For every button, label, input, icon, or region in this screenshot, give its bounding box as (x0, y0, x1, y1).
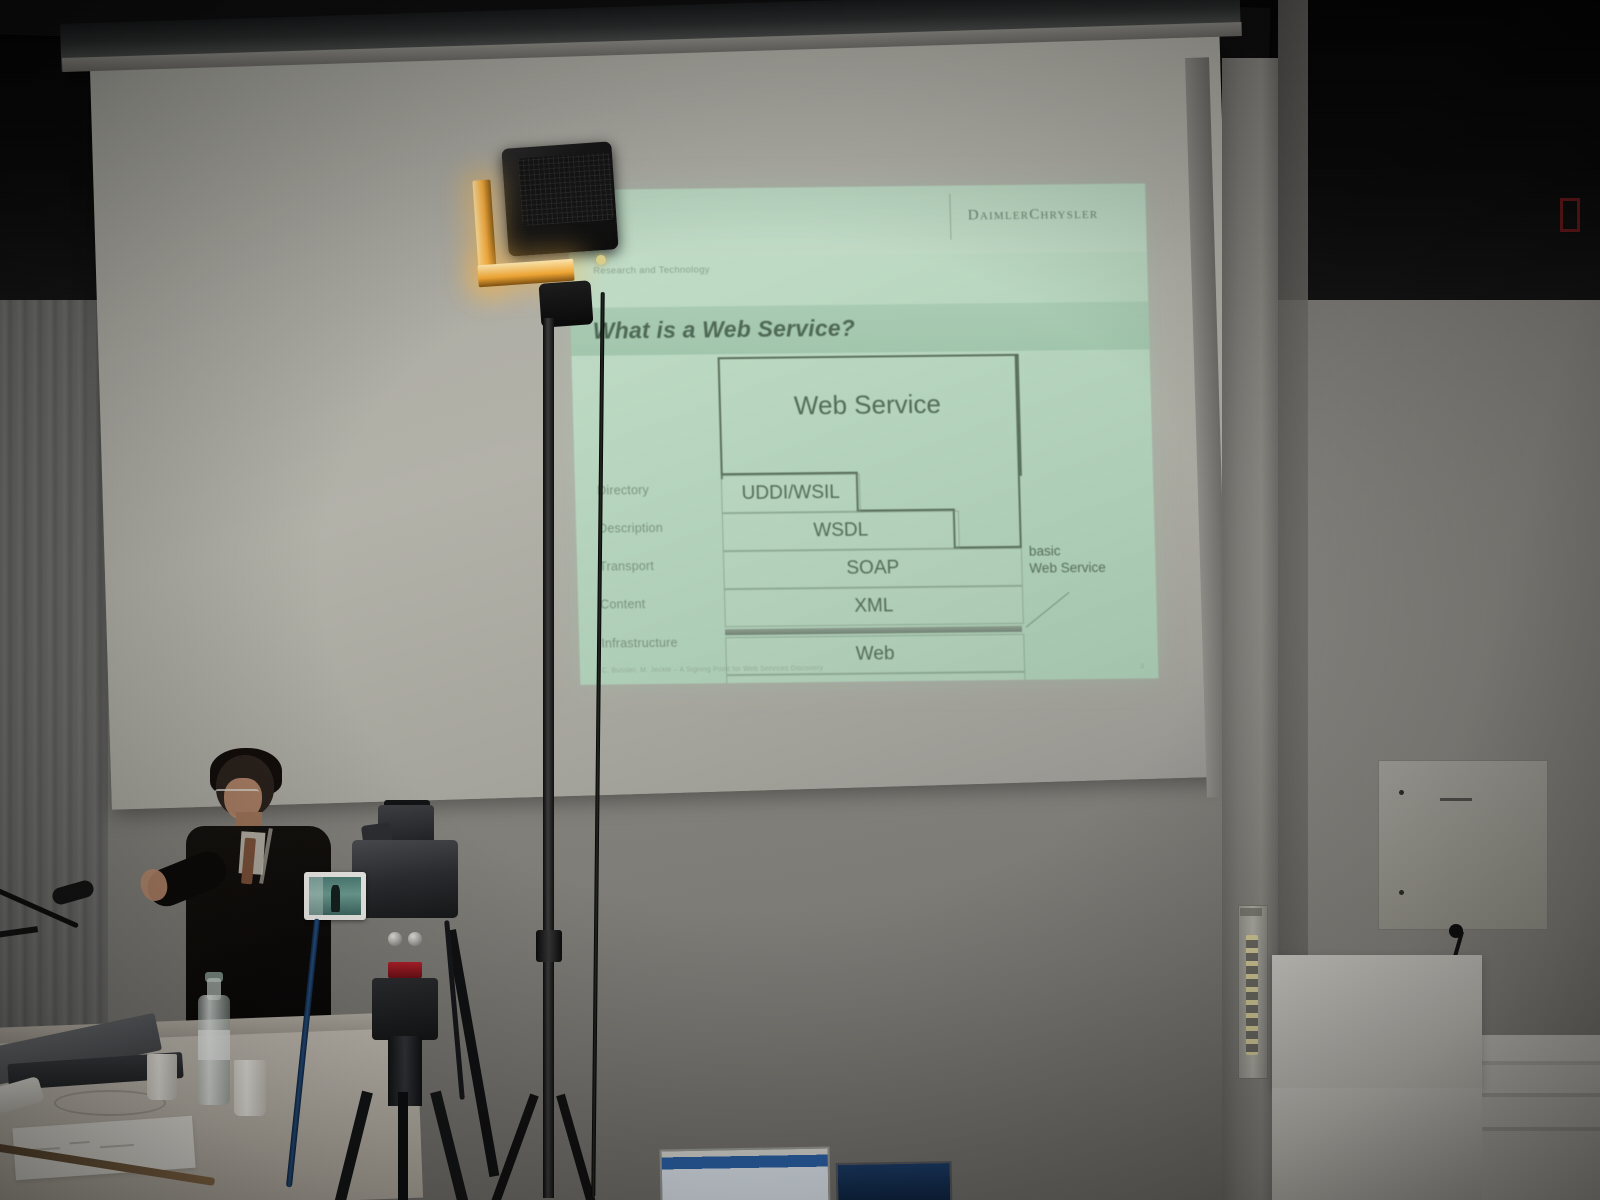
projected-slide: DaimlerChrysler Research and Technology … (567, 183, 1158, 684)
camera-record-indicator (388, 962, 422, 978)
paper-cup-right (234, 1060, 266, 1116)
stack-layer-xml: XML (724, 586, 1024, 627)
slide-title: What is a Web Service? (592, 315, 855, 345)
connector-ports[interactable] (1246, 935, 1258, 1055)
audience-laptop-screen-right (836, 1161, 953, 1200)
annotation-basic-label: basic (1029, 543, 1061, 560)
light-stand-collar[interactable] (536, 930, 562, 962)
glasses-icon (215, 789, 259, 801)
light-stand-pole (543, 318, 554, 1198)
stairs (1480, 1035, 1600, 1200)
paper-scribble-3 (100, 1144, 134, 1148)
left-curtain (0, 210, 108, 1050)
row-label-transport: Transport (599, 559, 654, 574)
lectern (1272, 955, 1482, 1090)
lectern-microphone-icon (1449, 924, 1463, 938)
row-label-infrastructure: Infrastructure (601, 636, 678, 651)
wall-access-panel (1378, 760, 1548, 930)
paper-scribble-2 (70, 1141, 90, 1144)
bottle-label (198, 1030, 230, 1060)
camera-lcd-panel[interactable] (304, 872, 366, 920)
studio-light-grill (518, 152, 615, 226)
camera-knob-right[interactable] (408, 932, 422, 946)
department-label: Research and Technology (593, 264, 710, 276)
camera-knob-left[interactable] (388, 932, 402, 946)
lcd-preview-wall (309, 877, 323, 915)
audience-laptop-screen-left (660, 1147, 831, 1200)
connector-strip-label (1240, 908, 1262, 916)
panel-screw-top (1399, 790, 1404, 795)
paper-cup-left (147, 1054, 177, 1100)
panel-screw-bottom (1399, 890, 1404, 895)
row-label-directory: Directory (597, 483, 649, 498)
tripod-leg-center (398, 1092, 408, 1200)
panel-slot (1440, 798, 1472, 801)
tripod-head (372, 978, 438, 1040)
stack-layer-wsdl: WSDL (722, 511, 960, 552)
lectern-base (1272, 1088, 1482, 1200)
row-label-description: Description (598, 521, 663, 536)
row-label-content: Content (600, 597, 646, 612)
presentation-photo-scene: DaimlerChrysler Research and Technology … (0, 0, 1600, 1200)
video-camera-body (352, 840, 458, 918)
studio-light-adjust-knob[interactable] (596, 255, 606, 265)
stack-layer-soap: SOAP (723, 548, 1023, 589)
stack-layer-uddi-wsil: UDDI/WSIL (721, 474, 861, 514)
camera-lcd-preview (309, 877, 361, 915)
slide-page-number: 3 (1140, 663, 1144, 670)
annotation-leader-line (1026, 592, 1070, 628)
red-wall-marker (1560, 198, 1580, 232)
web-service-stack-diagram: Web Service Directory Description Transp… (571, 338, 1158, 674)
annotation-web-service-label: Web Service (1029, 560, 1106, 578)
bracket-label-web-service: Web Service (718, 388, 1016, 422)
lcd-preview-speaker (331, 885, 340, 912)
daimlerchrysler-logo: DaimlerChrysler (968, 206, 1099, 224)
